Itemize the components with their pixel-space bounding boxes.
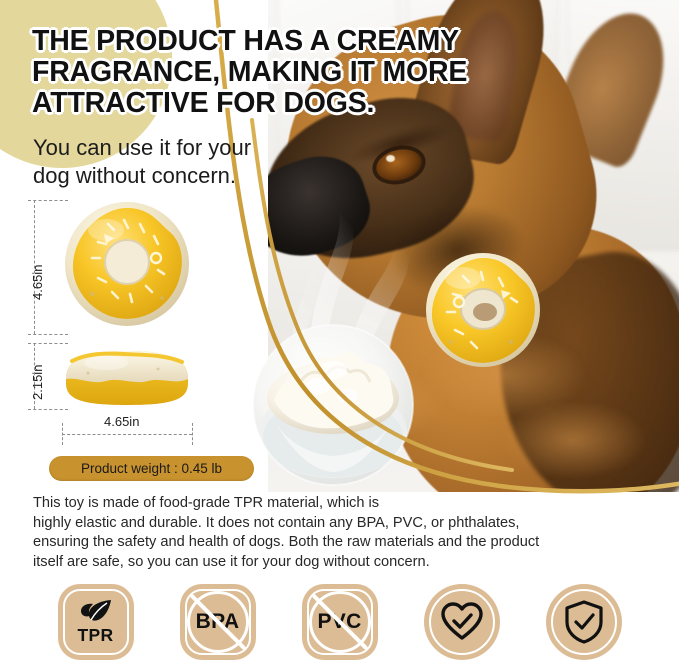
fur-texture <box>328 370 448 440</box>
width-tick-right <box>192 423 193 445</box>
headline-line-1: THE PRODUCT HAS A CREAMY <box>32 26 632 57</box>
shield-check-icon <box>564 600 604 644</box>
weight-badge-text: Product weight : 0.45 lb <box>81 461 222 476</box>
width-measure-line <box>62 434 192 435</box>
width-label: 4.65in <box>104 414 139 429</box>
weight-badge: Product weight : 0.45 lb <box>49 456 254 481</box>
fur-texture <box>498 400 648 480</box>
width-tick-left <box>62 423 63 445</box>
badge-tpr: TPR <box>58 584 134 660</box>
headline-line-2: FRAGRANCE, MAKING IT MORE <box>32 57 632 88</box>
height-label: 4.65in <box>30 265 45 300</box>
dimension-diagram: 4.65in 2.15in 4.65in <box>0 195 260 455</box>
subheading-line-1: You can use it for your <box>33 134 363 162</box>
feature-badges: TPR BPA PVC <box>0 578 679 666</box>
page-title: THE PRODUCT HAS A CREAMY FRAGRANCE, MAKI… <box>32 26 632 119</box>
description-line-3: ensuring the safety and health of dogs. … <box>33 533 658 553</box>
thickness-tick-bottom <box>28 409 68 410</box>
subheading: You can use it for your dog without conc… <box>33 134 363 190</box>
description-line-2: highly elastic and durable. It does not … <box>33 514 658 534</box>
headline-line-3: ATTRACTIVE FOR DOGS. <box>32 88 632 119</box>
infographic-canvas: THE PRODUCT HAS A CREAMY FRAGRANCE, MAKI… <box>0 0 679 666</box>
thickness-label: 2.15in <box>30 365 45 400</box>
description-line-4: itself are safe, so you can use it for y… <box>33 553 658 573</box>
height-tick-bottom <box>28 334 68 335</box>
heart-check-icon <box>440 602 484 642</box>
dog-eye-highlight <box>386 155 395 162</box>
badge-tpr-label: TPR <box>78 625 114 646</box>
subheading-line-2: dog without concern. <box>33 162 363 190</box>
leaf-icon <box>79 598 113 624</box>
description-line-1: This toy is made of food-grade TPR mater… <box>33 494 658 514</box>
description-text: This toy is made of food-grade TPR mater… <box>33 494 658 572</box>
donut-toy-side-view <box>62 347 192 409</box>
badge-protection <box>546 584 622 660</box>
height-tick-top <box>28 200 68 201</box>
thickness-tick-top <box>28 343 68 344</box>
badge-health-safe <box>424 584 500 660</box>
badge-bpa-free: BPA <box>180 584 256 660</box>
badge-pvc-free: PVC <box>302 584 378 660</box>
donut-toy-top-view <box>62 198 192 328</box>
donut-toy-in-mouth <box>423 250 543 370</box>
